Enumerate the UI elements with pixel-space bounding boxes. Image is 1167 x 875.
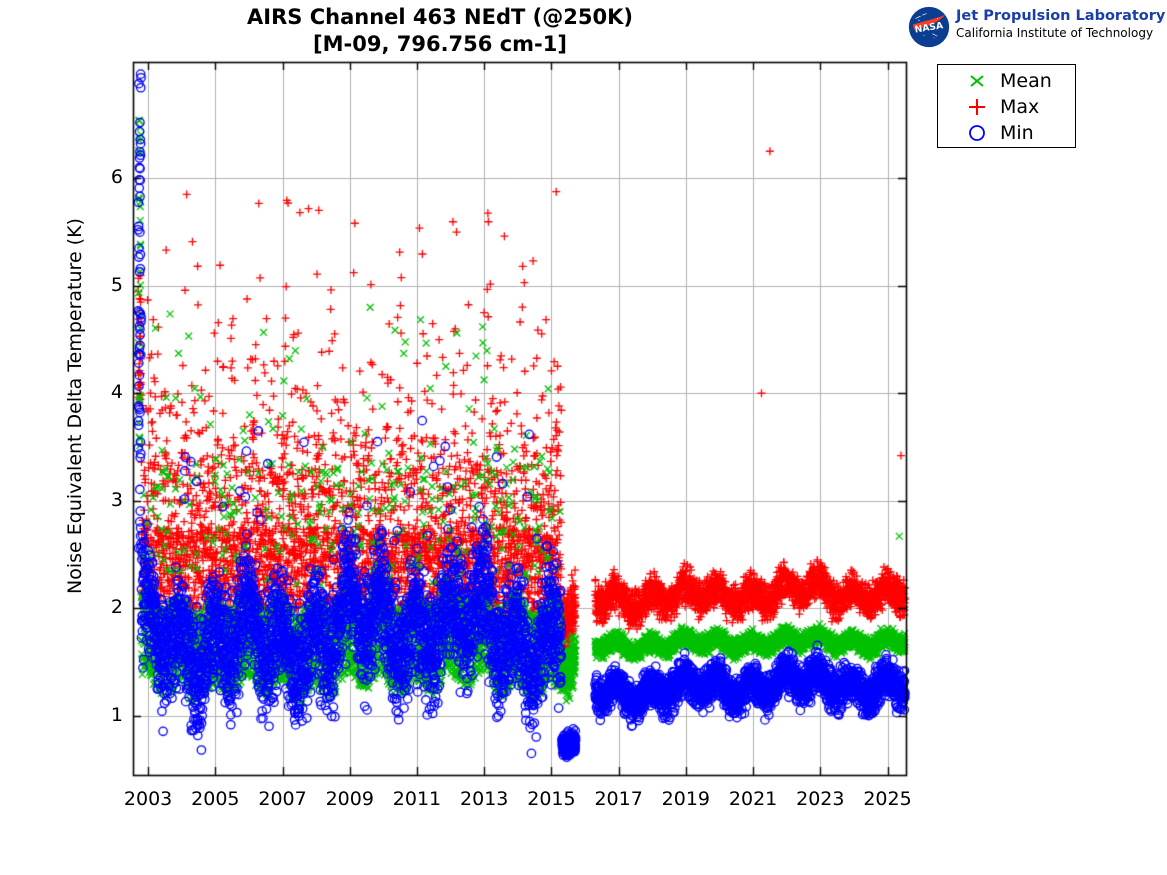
y-axis-tick-label: 5 xyxy=(97,276,123,295)
legend-label-mean: Mean xyxy=(1000,68,1052,94)
y-axis-label: Noise Equivalent Delta Temperature (K) xyxy=(64,156,86,656)
legend-entry-min: Min xyxy=(938,120,1077,146)
x-axis-tick-label: 2019 xyxy=(651,790,721,809)
y-axis-tick-label: 2 xyxy=(97,598,123,617)
max-marker-icon xyxy=(960,94,994,120)
legend-entry-max: Max xyxy=(938,94,1077,120)
x-axis-tick-label: 2025 xyxy=(853,790,923,809)
figure-root: AIRS Channel 463 NEdT (@250K) [M-09, 796… xyxy=(0,0,1167,875)
y-axis-tick-label: 3 xyxy=(97,491,123,510)
x-axis-tick-label: 2021 xyxy=(718,790,788,809)
legend-label-max: Max xyxy=(1000,94,1039,120)
x-axis-tick-label: 2023 xyxy=(785,790,855,809)
x-axis-tick-label: 2007 xyxy=(248,790,318,809)
x-axis-tick-label: 2011 xyxy=(382,790,452,809)
x-axis-tick-label: 2009 xyxy=(315,790,385,809)
legend-label-min: Min xyxy=(1000,120,1034,146)
chart-legend: Mean Max Min xyxy=(937,64,1076,148)
legend-entry-mean: Mean xyxy=(938,68,1077,94)
mean-marker-icon xyxy=(960,68,994,94)
y-axis-tick-label: 1 xyxy=(97,706,123,725)
x-axis-tick-label: 2003 xyxy=(113,790,183,809)
y-axis-tick-label: 4 xyxy=(97,383,123,402)
x-axis-tick-label: 2013 xyxy=(449,790,519,809)
y-axis-tick-label: 6 xyxy=(97,168,123,187)
x-axis-tick-label: 2015 xyxy=(516,790,586,809)
x-axis-tick-label: 2005 xyxy=(180,790,250,809)
x-axis-tick-label: 2017 xyxy=(584,790,654,809)
min-marker-icon xyxy=(960,120,994,146)
